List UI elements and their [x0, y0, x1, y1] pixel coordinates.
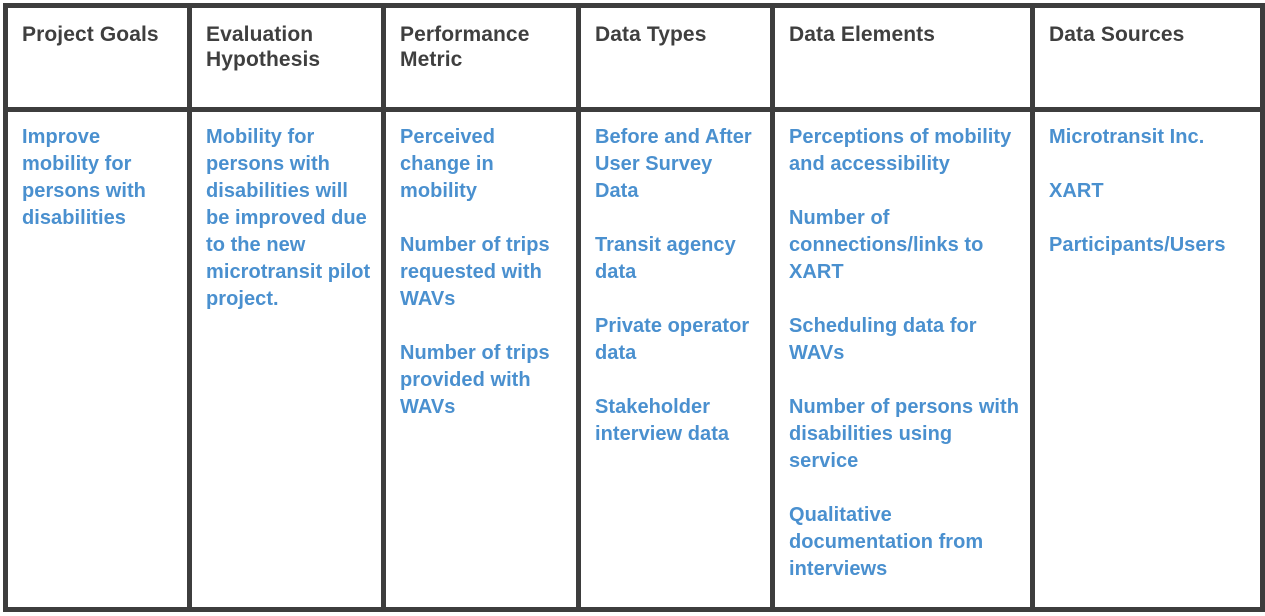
data-types-list: Before and After User Survey Data Transi…: [595, 124, 760, 448]
evaluation-matrix-table: Project Goals Evaluation Hypothesis Perf…: [3, 3, 1265, 612]
evaluation-matrix-table-wrapper: Project Goals Evaluation Hypothesis Perf…: [3, 3, 1260, 612]
column-header-project-goals: Project Goals: [6, 6, 190, 110]
column-header-label: Project Goals: [22, 22, 187, 47]
column-header-data-elements: Data Elements: [773, 6, 1033, 110]
column-header-label: Data Elements: [789, 22, 1030, 47]
column-header-evaluation-hypothesis: Evaluation Hypothesis: [190, 6, 384, 110]
data-types-item: Private operator data: [595, 313, 760, 367]
data-elements-item: Number of connections/links to XART: [789, 205, 1020, 286]
data-sources-item: Microtransit Inc.: [1049, 124, 1250, 151]
data-elements-item: Qualitative documentation from interview…: [789, 502, 1020, 583]
data-types-item: Before and After User Survey Data: [595, 124, 760, 205]
cell-data-sources: Microtransit Inc. XART Participants/User…: [1033, 110, 1263, 610]
data-elements-item: Scheduling data for WAVs: [789, 313, 1020, 367]
evaluation-hypothesis-list: Mobility for persons with disabilities w…: [206, 124, 371, 313]
cell-project-goals: Improve mobility for persons with disabi…: [6, 110, 190, 610]
data-sources-item: XART: [1049, 178, 1250, 205]
data-types-item: Transit agency data: [595, 232, 760, 286]
column-header-performance-metric: Performance Metric: [384, 6, 579, 110]
table-header-row: Project Goals Evaluation Hypothesis Perf…: [6, 6, 1263, 110]
column-header-label: Performance Metric: [400, 22, 576, 72]
evaluation-hypothesis-item: Mobility for persons with disabilities w…: [206, 124, 371, 313]
column-header-label: Data Sources: [1049, 22, 1260, 47]
cell-performance-metric: Perceived change in mobility Number of t…: [384, 110, 579, 610]
column-header-label: Evaluation Hypothesis: [206, 22, 381, 72]
performance-metric-item: Number of trips requested with WAVs: [400, 232, 566, 313]
cell-data-elements: Perceptions of mobility and accessibilit…: [773, 110, 1033, 610]
data-types-item: Stakeholder interview data: [595, 394, 760, 448]
performance-metric-item: Number of trips provided with WAVs: [400, 340, 566, 421]
data-elements-item: Number of persons with disabilities usin…: [789, 394, 1020, 475]
project-goals-list: Improve mobility for persons with disabi…: [22, 124, 177, 232]
performance-metric-list: Perceived change in mobility Number of t…: [400, 124, 566, 421]
performance-metric-item: Perceived change in mobility: [400, 124, 566, 205]
cell-data-types: Before and After User Survey Data Transi…: [579, 110, 773, 610]
table-body: Improve mobility for persons with disabi…: [6, 110, 1263, 610]
column-header-label: Data Types: [595, 22, 770, 47]
column-header-data-types: Data Types: [579, 6, 773, 110]
project-goals-item: Improve mobility for persons with disabi…: [22, 124, 177, 232]
table-header-row-group: Project Goals Evaluation Hypothesis Perf…: [6, 6, 1263, 110]
table-row: Improve mobility for persons with disabi…: [6, 110, 1263, 610]
data-elements-item: Perceptions of mobility and accessibilit…: [789, 124, 1020, 178]
column-header-data-sources: Data Sources: [1033, 6, 1263, 110]
data-sources-list: Microtransit Inc. XART Participants/User…: [1049, 124, 1250, 259]
data-elements-list: Perceptions of mobility and accessibilit…: [789, 124, 1020, 583]
cell-evaluation-hypothesis: Mobility for persons with disabilities w…: [190, 110, 384, 610]
data-sources-item: Participants/Users: [1049, 232, 1250, 259]
